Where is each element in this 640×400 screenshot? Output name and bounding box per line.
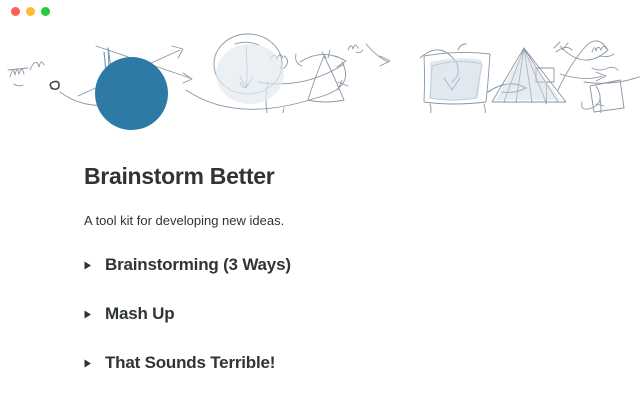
close-button[interactable] [11, 7, 20, 16]
toggle-label: That Sounds Terrible! [105, 353, 275, 373]
page-icon[interactable] [95, 57, 168, 130]
triangle-right-icon[interactable] [84, 356, 98, 370]
app-window: Brainstorm Better A tool kit for develop… [0, 0, 640, 400]
page-title[interactable]: Brainstorm Better [84, 163, 274, 191]
document-body: Brainstorm Better A tool kit for develop… [0, 113, 640, 400]
minimize-button[interactable] [26, 7, 35, 16]
toggle-item-brainstorming[interactable]: Brainstorming (3 Ways) [84, 253, 544, 277]
toggle-item-mash-up[interactable]: Mash Up [84, 302, 544, 326]
toggle-item-that-sounds-terrible[interactable]: That Sounds Terrible! [84, 351, 544, 375]
maximize-button[interactable] [41, 7, 50, 16]
triangle-right-icon[interactable] [84, 258, 98, 272]
page-subtitle[interactable]: A tool kit for developing new ideas. [84, 212, 284, 230]
window-controls [11, 7, 50, 16]
toggle-label: Mash Up [105, 304, 174, 324]
toggle-list: Brainstorming (3 Ways) Mash Up That Soun… [84, 253, 544, 400]
toggle-label: Brainstorming (3 Ways) [105, 255, 291, 275]
title-bar [0, 0, 640, 22]
triangle-right-icon[interactable] [84, 307, 98, 321]
